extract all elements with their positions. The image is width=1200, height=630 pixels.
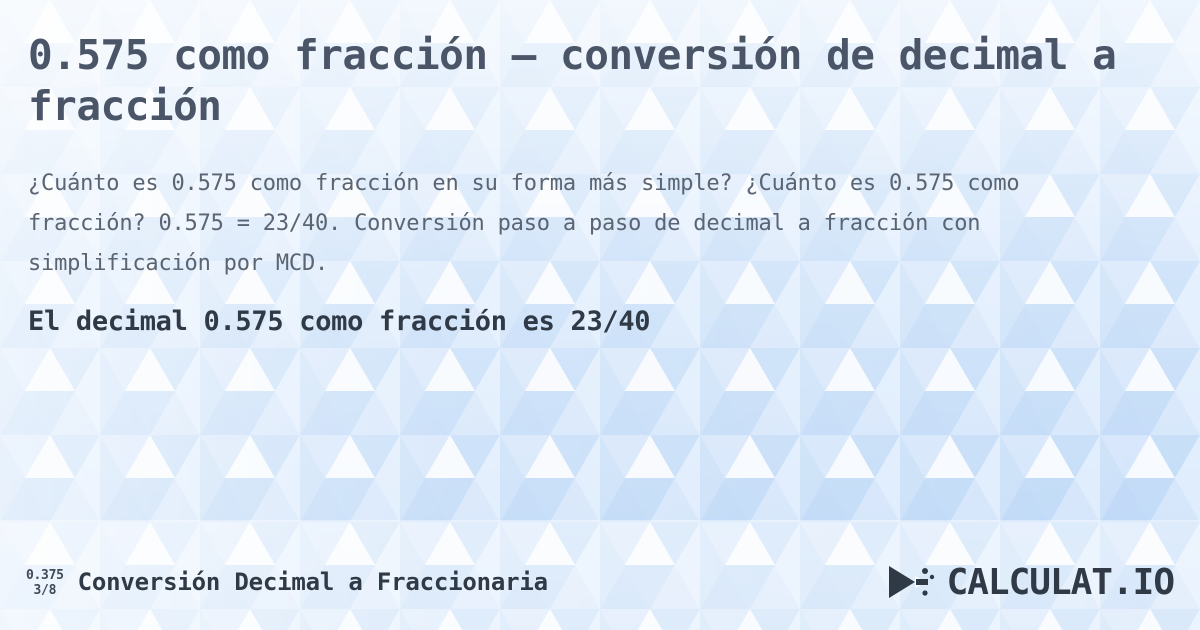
footer-label: Conversión Decimal a Fraccionaria [78, 568, 548, 596]
footer-left-group: 0.375 3/8 Conversión Decimal a Fracciona… [26, 566, 548, 598]
fraction-badge-denominator: 3/8 [34, 583, 57, 598]
brand-logo: CALCULAT.IO [885, 562, 1174, 603]
page-title: 0.575 como fracción – conversión de deci… [28, 30, 1118, 132]
page-description: ¿Cuánto es 0.575 como fracción en su for… [28, 164, 1128, 284]
fraction-badge-icon: 0.375 3/8 [26, 566, 64, 598]
answer-statement: El decimal 0.575 como fracción es 23/40 [28, 306, 1172, 337]
fraction-badge-numerator: 0.375 [26, 568, 64, 583]
page-root: 0.575 como fracción – conversión de deci… [0, 0, 1200, 630]
calculator-mark-icon [885, 562, 939, 602]
footer-bar: 0.375 3/8 Conversión Decimal a Fracciona… [0, 534, 1200, 630]
brand-name: CALCULAT.IO [947, 562, 1174, 603]
